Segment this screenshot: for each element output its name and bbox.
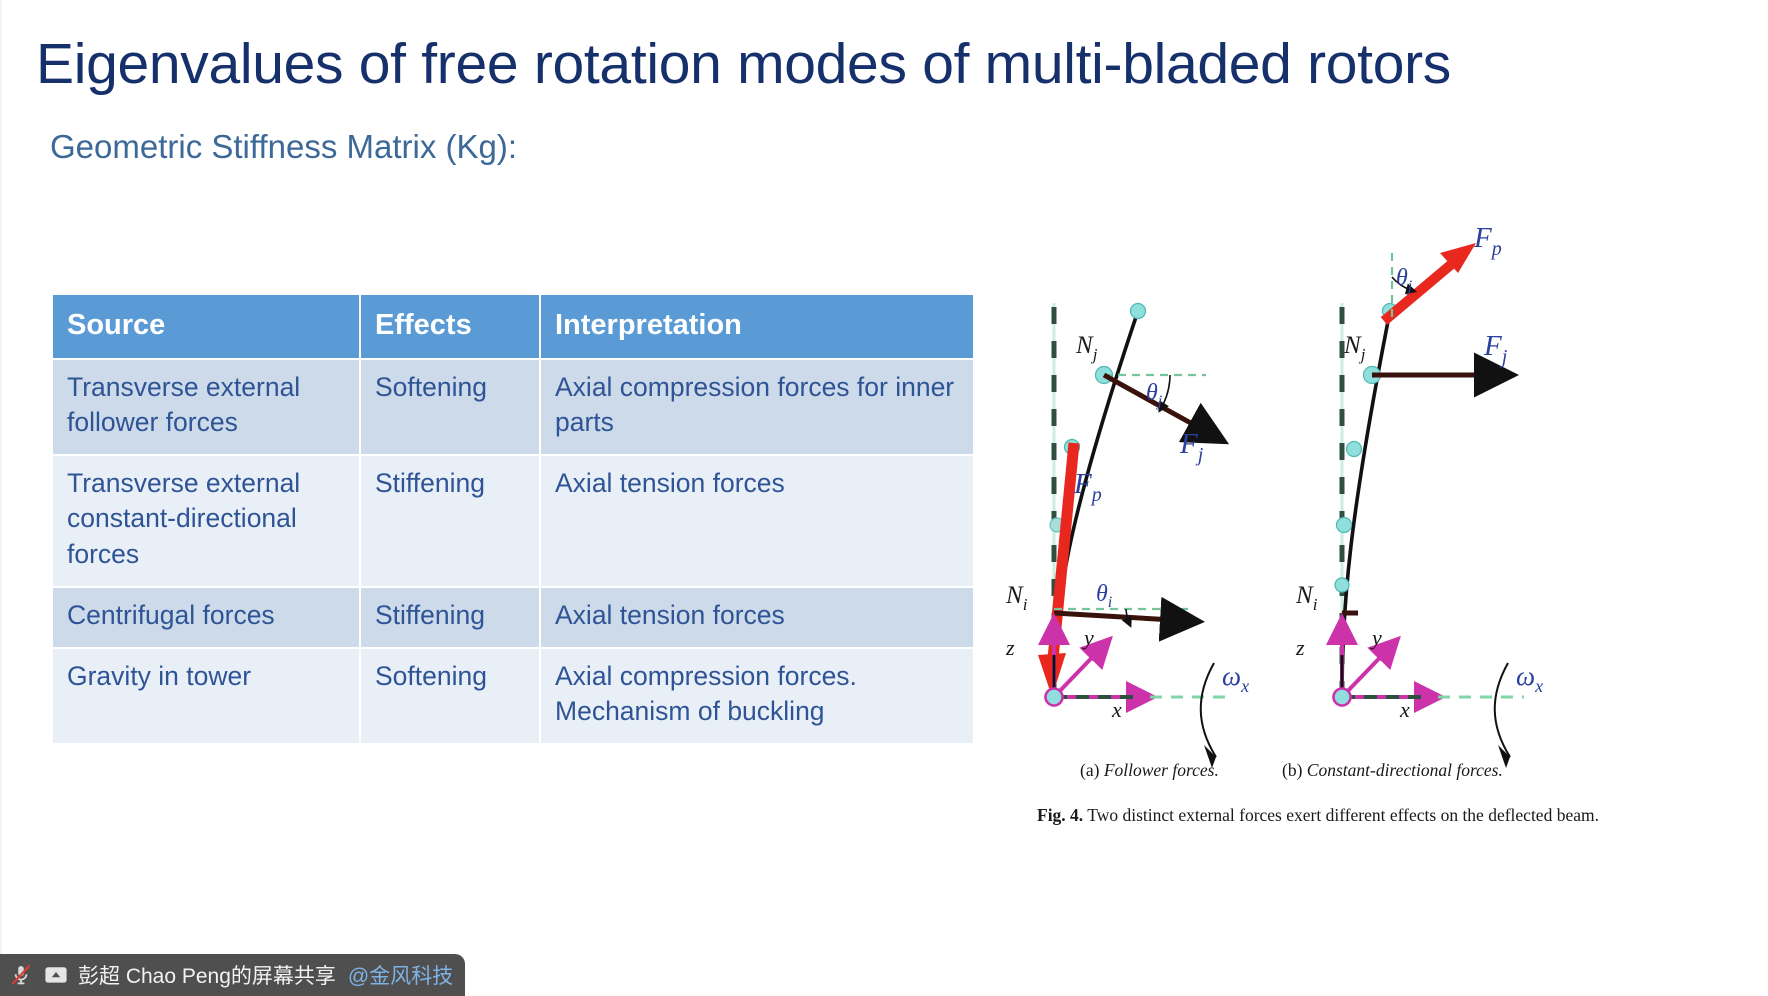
label-axis-x: x (1111, 697, 1122, 722)
label-omega-x: ωx (1222, 661, 1249, 696)
cell-effects: Stiffening (361, 456, 539, 586)
cell-source: Transverse external follower forces (53, 360, 359, 454)
figure-caption: Fig. 4. Two distinct external forces exe… (1037, 805, 1599, 826)
screen-share-status-bar[interactable]: 彭超 Chao Peng的屏幕共享 @金风科技 (0, 954, 465, 996)
cell-interpretation: Axial compression forces. Mechanism of b… (541, 649, 973, 743)
node-dot (1347, 442, 1362, 457)
figure-panel-b: Nj Ni Fp Fj θj z y x ωx (1295, 225, 1543, 768)
label-node-j: Nj (1075, 332, 1098, 364)
label-theta-j: θj (1146, 380, 1163, 410)
origin-node (1334, 689, 1351, 706)
table-row: Centrifugal forces Stiffening Axial tens… (53, 588, 973, 647)
cell-interpretation: Axial tension forces (541, 588, 973, 647)
cell-interpretation: Axial tension forces (541, 456, 973, 586)
label-axis-z: z (1295, 635, 1305, 660)
cell-effects: Softening (361, 649, 539, 743)
label-force-nodal: Fj (1483, 330, 1508, 368)
figure-4-image: Nj Ni Fp Fj θj θi z y x ωx (1000, 225, 1740, 825)
label-axis-y: y (1082, 625, 1094, 650)
label-force-follower: Fp (1473, 225, 1502, 260)
cell-effects: Stiffening (361, 588, 539, 647)
figure-caption-label: Fig. 4. (1037, 805, 1083, 825)
label-axis-z: z (1005, 635, 1015, 660)
figure-caption-text: Two distinct external forces exert diffe… (1087, 805, 1599, 825)
column-header-source: Source (53, 295, 359, 358)
figure-caption-block: (a) Follower forces. (b) Constant-direct… (1000, 760, 1760, 786)
cell-source: Centrifugal forces (53, 588, 359, 647)
label-axis-x: x (1399, 697, 1410, 722)
label-node-i: Ni (1005, 582, 1028, 614)
cell-effects: Softening (361, 360, 539, 454)
slide-left-edge (0, 0, 2, 996)
label-node-j: Nj (1343, 332, 1366, 364)
label-node-i: Ni (1295, 582, 1318, 614)
table-row: Transverse external constant-directional… (53, 456, 973, 586)
panel-a-label: (a) Follower forces. (1080, 760, 1219, 781)
label-omega-x: ωx (1516, 661, 1543, 696)
table-header-row: Source Effects Interpretation (53, 295, 973, 358)
cell-source: Gravity in tower (53, 649, 359, 743)
stiffness-source-table-wrapper: Source Effects Interpretation Transverse… (51, 293, 971, 745)
label-axis-y: y (1370, 625, 1382, 650)
table-row: Gravity in tower Softening Axial compres… (53, 649, 973, 743)
cell-source: Transverse external constant-directional… (53, 456, 359, 586)
panel-b-label: (b) Constant-directional forces. (1282, 760, 1503, 781)
label-theta-j: θj (1396, 265, 1413, 295)
origin-node (1046, 689, 1063, 706)
node-dot (1337, 518, 1352, 533)
share-organization-label: @金风科技 (348, 960, 453, 990)
screen-share-icon[interactable] (43, 962, 69, 988)
cell-interpretation: Axial compression forces for inner parts (541, 360, 973, 454)
slide-subtitle: Geometric Stiffness Matrix (Kg): (50, 128, 517, 166)
presentation-slide: Eigenvalues of free rotation modes of mu… (0, 0, 1768, 996)
column-header-interpretation: Interpretation (541, 295, 973, 358)
stiffness-source-table: Source Effects Interpretation Transverse… (51, 293, 975, 745)
figure-panel-a: Nj Ni Fp Fj θj θi z y x ωx (1005, 303, 1249, 768)
label-force-follower: Fp (1073, 468, 1102, 506)
microphone-muted-icon[interactable] (8, 962, 34, 988)
share-presenter-label: 彭超 Chao Peng的屏幕共享 (78, 960, 336, 990)
column-header-effects: Effects (361, 295, 539, 358)
table-row: Transverse external follower forces Soft… (53, 360, 973, 454)
label-force-nodal: Fj (1179, 428, 1204, 466)
node-dot (1335, 578, 1349, 592)
node-dot (1131, 304, 1146, 319)
label-theta-i: θi (1096, 581, 1112, 611)
page-title: Eigenvalues of free rotation modes of mu… (36, 32, 1736, 98)
